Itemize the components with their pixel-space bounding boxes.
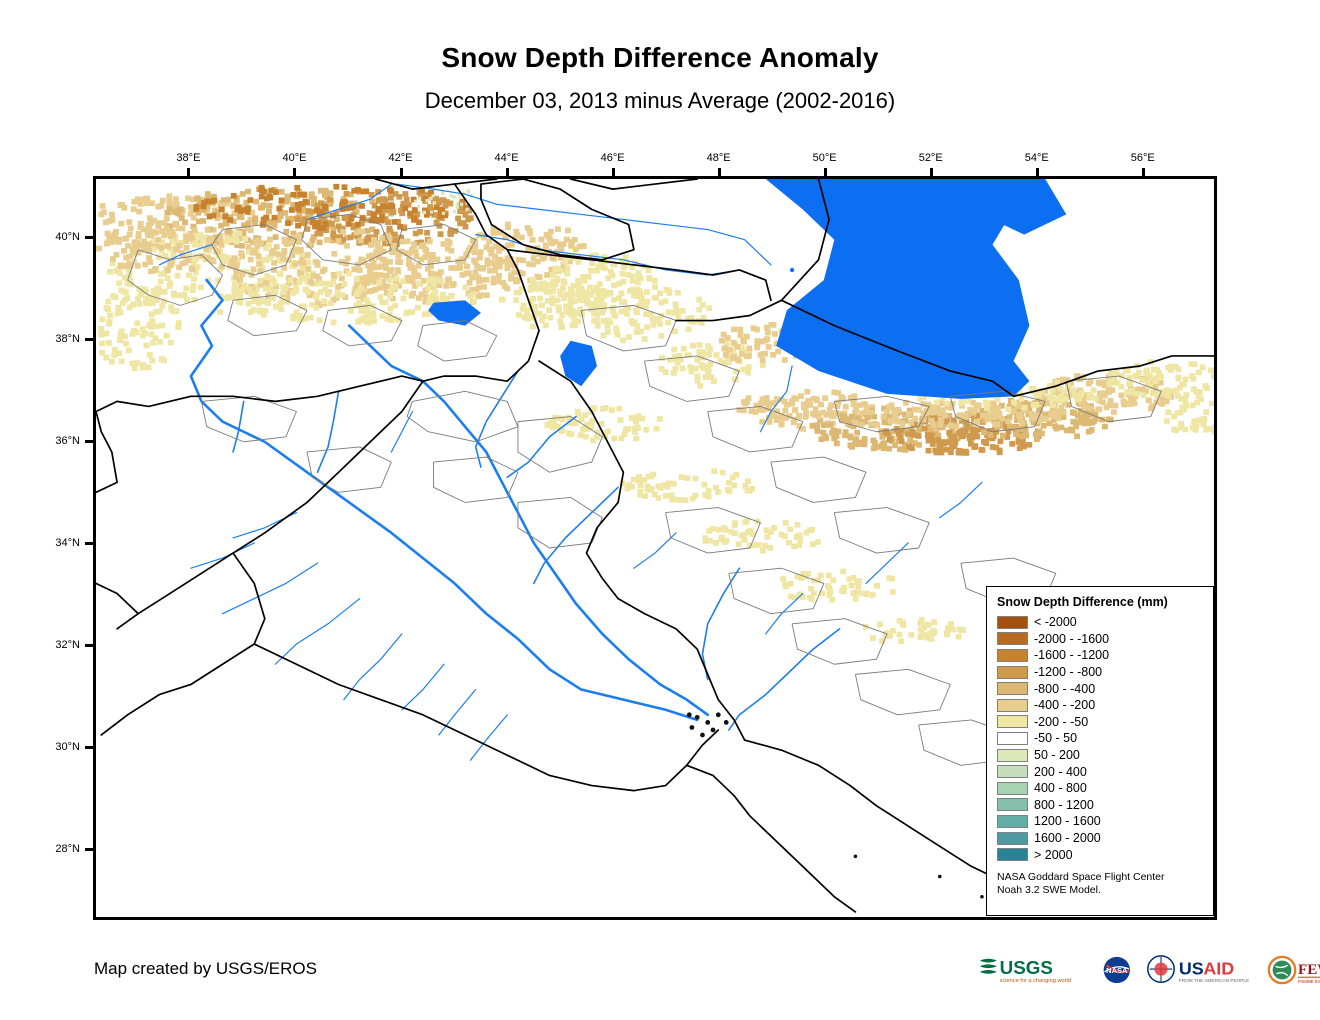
anomaly-cell [547, 236, 553, 242]
anomaly-cell [505, 260, 511, 266]
legend-swatch [997, 666, 1028, 679]
x-tick-label: 46°E [601, 152, 625, 164]
nasa-logo: NASA [1098, 954, 1136, 986]
anomaly-cell [568, 431, 574, 437]
anomaly-cell [107, 269, 113, 275]
anomaly-cell [666, 309, 672, 315]
anomaly-cell [440, 241, 446, 247]
anomaly-cell [991, 404, 997, 410]
anomaly-cell [713, 540, 719, 546]
anomaly-cell [484, 292, 490, 298]
anomaly-cell [568, 291, 574, 297]
anomaly-cell [689, 369, 695, 375]
anomaly-cell [723, 352, 729, 358]
anomaly-cell [1005, 419, 1011, 425]
anomaly-cell [771, 525, 777, 531]
anomaly-cell [178, 292, 184, 298]
anomaly-cell [98, 212, 104, 218]
anomaly-cell [644, 487, 650, 493]
anomaly-cell [376, 206, 382, 212]
anomaly-cell [473, 287, 479, 293]
anomaly-cell [295, 216, 301, 222]
country-border [687, 765, 856, 912]
anomaly-cell [886, 575, 892, 581]
anomaly-cell [611, 436, 617, 442]
anomaly-cell [206, 237, 212, 243]
anomaly-cell [387, 259, 393, 265]
anomaly-cell [767, 545, 773, 551]
anomaly-cell [635, 293, 641, 299]
anomaly-cell [917, 620, 923, 626]
anomaly-cell [742, 519, 748, 525]
anomaly-cell [175, 211, 181, 217]
admin-boundary [834, 508, 929, 554]
anomaly-cell [557, 291, 563, 297]
anomaly-cell [553, 239, 559, 245]
anomaly-cell [1026, 442, 1032, 448]
anomaly-cell [926, 622, 932, 628]
anomaly-cell [564, 271, 570, 277]
anomaly-cell [157, 339, 163, 345]
anomaly-cell [412, 269, 418, 275]
anomaly-cell [725, 335, 731, 341]
anomaly-cell [106, 321, 112, 327]
anomaly-cell [715, 489, 721, 495]
anomaly-cell [204, 199, 210, 205]
anomaly-cell [354, 230, 360, 236]
anomaly-cell [136, 209, 142, 215]
anomaly-cell [736, 541, 742, 547]
anomaly-cell [854, 579, 860, 585]
anomaly-cell [595, 323, 601, 329]
x-tick-label: 42°E [389, 152, 413, 164]
anomaly-cell [371, 318, 377, 324]
anomaly-cell [797, 532, 803, 538]
water-speck [980, 222, 984, 226]
marsh-speck [711, 728, 716, 733]
anomaly-cell [371, 211, 377, 217]
anomaly-cell [355, 222, 361, 228]
anomaly-cell [372, 274, 378, 280]
anomaly-cell [358, 286, 364, 292]
river [729, 629, 840, 730]
anomaly-cell [720, 470, 726, 476]
anomaly-cell [355, 319, 361, 325]
anomaly-cell [768, 322, 774, 328]
anomaly-cell [990, 444, 996, 450]
anomaly-cell [655, 495, 661, 501]
anomaly-cell [460, 203, 463, 206]
anomaly-cell [778, 416, 784, 422]
anomaly-cell [686, 326, 692, 332]
legend-swatch [997, 848, 1028, 861]
anomaly-cell [358, 238, 364, 244]
anomaly-cell [237, 277, 243, 283]
anomaly-cell [808, 586, 814, 592]
anomaly-cell [827, 407, 833, 413]
agency-logo-strip: USGS science for a changing world NASA U… [978, 952, 1320, 988]
anomaly-cell [508, 276, 514, 282]
anomaly-cell [899, 439, 905, 445]
anomaly-cell [1166, 410, 1172, 416]
river [223, 563, 318, 613]
marsh-speck [695, 715, 700, 720]
anomaly-cell [706, 488, 712, 494]
anomaly-cell [1021, 443, 1027, 449]
anomaly-cell [374, 229, 380, 235]
anomaly-cell [527, 287, 533, 293]
anomaly-cell [425, 199, 428, 202]
anomaly-cell [620, 271, 626, 277]
anomaly-cell [189, 235, 195, 241]
anomaly-cell [888, 418, 894, 424]
anomaly-cell [308, 315, 314, 321]
anomaly-cell [782, 357, 788, 363]
anomaly-cell [516, 257, 522, 263]
anomaly-cell [418, 196, 421, 199]
anomaly-cell [626, 334, 632, 340]
anomaly-cell [429, 256, 435, 262]
country-border [254, 644, 718, 791]
anomaly-cell [374, 217, 380, 223]
anomaly-cell [192, 240, 198, 246]
anomaly-cell [650, 316, 656, 322]
anomaly-cell [543, 242, 549, 248]
anomaly-cell [253, 199, 259, 205]
anomaly-cell [877, 622, 883, 628]
anomaly-cell [861, 439, 867, 445]
anomaly-cell [399, 211, 405, 217]
anomaly-cell [337, 271, 343, 277]
anomaly-cell [613, 325, 619, 331]
anomaly-cell [995, 422, 1001, 428]
anomaly-cell [1086, 420, 1092, 426]
anomaly-cell [144, 200, 150, 206]
anomaly-cell [263, 245, 269, 251]
anomaly-cell [186, 257, 192, 263]
anomaly-cell [699, 362, 705, 368]
anomaly-cell [395, 259, 401, 265]
anomaly-cell [980, 413, 986, 419]
anomaly-cell [1129, 390, 1135, 396]
anomaly-cell [822, 395, 828, 401]
anomaly-cell [386, 227, 392, 233]
anomaly-cell [99, 316, 105, 322]
anomaly-cell [234, 262, 240, 268]
anomaly-cell [411, 216, 417, 222]
anomaly-cell [577, 306, 583, 312]
anomaly-cell [169, 202, 175, 208]
anomaly-cell [388, 277, 394, 283]
anomaly-cell [552, 266, 558, 272]
anomaly-cell [1097, 381, 1103, 387]
anomaly-cell [636, 476, 642, 482]
anomaly-cell [916, 442, 922, 448]
anomaly-cell [925, 635, 931, 641]
anomaly-cell [1192, 362, 1198, 368]
anomaly-cell [839, 588, 845, 594]
anomaly-cell [205, 227, 211, 233]
y-tick [85, 644, 93, 647]
anomaly-cell [608, 269, 614, 275]
anomaly-cell [346, 271, 352, 277]
anomaly-cell [760, 357, 766, 363]
anomaly-cell [796, 413, 802, 419]
anomaly-cell [402, 205, 408, 211]
anomaly-cell [1112, 403, 1118, 409]
anomaly-cell [665, 320, 671, 326]
y-tick [85, 746, 93, 749]
anomaly-cell [967, 407, 973, 413]
x-tick-label: 44°E [495, 152, 519, 164]
anomaly-cell [434, 257, 440, 263]
anomaly-cell [388, 306, 394, 312]
anomaly-cell [605, 429, 611, 435]
anomaly-cell [453, 210, 456, 213]
anomaly-cell [167, 280, 173, 286]
svg-text:FEWS NET: FEWS NET [1298, 962, 1320, 978]
water-speck [948, 232, 952, 236]
anomaly-cell [826, 573, 832, 579]
svg-text:science for a changing world: science for a changing world [1000, 978, 1071, 984]
anomaly-cell [1203, 409, 1209, 415]
anomaly-cell [484, 277, 490, 283]
anomaly-cell [767, 419, 773, 425]
anomaly-cell [663, 493, 669, 499]
anomaly-cell [1010, 408, 1016, 414]
anomaly-cell [760, 363, 766, 369]
anomaly-cell [305, 266, 311, 272]
anomaly-cell [314, 274, 320, 280]
anomaly-cell [919, 630, 925, 636]
anomaly-cell [943, 401, 949, 407]
legend-label: -1200 - -800 [1034, 665, 1102, 679]
anomaly-cell [893, 409, 899, 415]
anomaly-cell [1108, 371, 1114, 377]
anomaly-cell [154, 324, 160, 330]
anomaly-cell [261, 217, 267, 223]
anomaly-cell [402, 191, 408, 197]
anomaly-cell [164, 333, 170, 339]
anomaly-cell [292, 261, 298, 267]
anomaly-cell [530, 280, 536, 286]
anomaly-cell [344, 243, 350, 249]
anomaly-cell [745, 529, 751, 535]
anomaly-cell [1114, 370, 1120, 376]
y-tick-label: 32°N [55, 639, 80, 651]
anomaly-cell [697, 383, 703, 389]
anomaly-cell [544, 422, 550, 428]
anomaly-cell [305, 289, 311, 295]
anomaly-cell [623, 426, 629, 432]
river [349, 326, 708, 715]
anomaly-cell [644, 299, 650, 305]
anomaly-cell [155, 204, 161, 210]
anomaly-cell [165, 268, 171, 274]
anomaly-cell [654, 426, 660, 432]
anomaly-cell [726, 480, 732, 486]
anomaly-cell [400, 296, 406, 302]
anomaly-cell [384, 316, 390, 322]
anomaly-cell [185, 195, 191, 201]
anomaly-cell [1141, 392, 1147, 398]
anomaly-cell [245, 301, 251, 307]
legend-class-list: < -2000-2000 - -1600-1600 - -1200-1200 -… [997, 614, 1205, 863]
anomaly-cell [168, 233, 174, 239]
anomaly-cell [125, 243, 131, 249]
anomaly-cell [569, 312, 575, 318]
anomaly-cell [99, 350, 105, 356]
anomaly-cell [997, 450, 1003, 456]
anomaly-cell [345, 256, 351, 262]
anomaly-cell [430, 292, 436, 298]
anomaly-cell [741, 339, 747, 345]
anomaly-cell [1208, 368, 1214, 374]
anomaly-cell [733, 472, 739, 478]
anomaly-cell [217, 309, 223, 315]
x-tick [1142, 168, 1145, 176]
anomaly-cell [972, 443, 978, 449]
anomaly-cell [305, 252, 311, 258]
anomaly-cell [611, 297, 617, 303]
anomaly-cell [976, 403, 982, 409]
svg-text:USGS: USGS [1000, 957, 1053, 978]
anomaly-cell [544, 272, 550, 278]
anomaly-cell [387, 293, 393, 299]
anomaly-cell [246, 244, 252, 250]
anomaly-cell [618, 417, 624, 423]
legend-attribution: NASA Goddard Space Flight Center Noah 3.… [997, 871, 1205, 897]
anomaly-cell [929, 418, 935, 424]
anomaly-cell [590, 438, 596, 444]
anomaly-cell [537, 311, 543, 317]
anomaly-cell [1158, 374, 1164, 380]
anomaly-cell [465, 217, 471, 223]
anomaly-cell [554, 297, 560, 303]
anomaly-cell [368, 264, 374, 270]
river [191, 543, 254, 568]
anomaly-cell [1191, 418, 1197, 424]
river [402, 664, 444, 710]
anomaly-cell [217, 236, 223, 242]
anomaly-cell [381, 257, 387, 263]
anomaly-cell [1196, 394, 1202, 400]
anomaly-cell [637, 489, 643, 495]
anomaly-cell [116, 351, 122, 357]
anomaly-cell [290, 192, 296, 198]
anomaly-cell [599, 306, 605, 312]
island-speck [854, 855, 858, 859]
svg-text:FROM THE AMERICAN PEOPLE: FROM THE AMERICAN PEOPLE [1179, 978, 1249, 983]
anomaly-cell [783, 520, 789, 526]
anomaly-cell [685, 475, 691, 481]
anomaly-cell [266, 209, 272, 215]
anomaly-cell [348, 308, 354, 314]
y-tick [85, 542, 93, 545]
anomaly-cell [443, 283, 449, 289]
anomaly-cell [638, 329, 644, 335]
anomaly-cell [530, 237, 536, 243]
anomaly-cell [320, 269, 326, 275]
anomaly-cell [1050, 409, 1056, 415]
anomaly-cell [293, 285, 299, 291]
anomaly-cell [690, 496, 696, 502]
anomaly-cell [114, 252, 120, 258]
anomaly-cell [509, 242, 515, 248]
anomaly-cell [564, 265, 570, 271]
anomaly-cell [716, 527, 722, 533]
anomaly-cell [516, 312, 522, 318]
anomaly-cell [264, 196, 270, 202]
anomaly-cell [431, 282, 437, 288]
anomaly-cell [1022, 405, 1028, 411]
anomaly-cell [147, 352, 153, 358]
anomaly-cell [256, 253, 262, 259]
anomaly-cell [547, 315, 553, 321]
anomaly-cell [291, 316, 297, 322]
anomaly-cell [415, 274, 421, 280]
anomaly-cell [823, 435, 829, 441]
anomaly-cell [616, 406, 622, 412]
anomaly-cell [645, 474, 651, 480]
anomaly-cell [377, 294, 383, 300]
anomaly-cell [821, 422, 827, 428]
anomaly-cell [425, 286, 431, 292]
anomaly-cell [959, 400, 965, 406]
anomaly-cell [755, 542, 761, 548]
anomaly-cell [317, 231, 323, 237]
anomaly-cell [659, 355, 665, 361]
anomaly-cell [376, 280, 382, 286]
anomaly-cell [289, 207, 295, 213]
anomaly-cell [605, 317, 611, 323]
anomaly-cell [530, 296, 536, 302]
anomaly-cell [296, 239, 302, 245]
anomaly-cell [149, 318, 155, 324]
anomaly-cell [631, 415, 637, 421]
anomaly-cell [878, 444, 884, 450]
anomaly-cell [1191, 376, 1197, 382]
anomaly-cell [252, 215, 258, 221]
anomaly-cell [1043, 416, 1049, 422]
anomaly-cell [611, 311, 617, 317]
anomaly-cell [415, 305, 421, 311]
anomaly-cell [886, 446, 892, 452]
anomaly-cell [618, 436, 624, 442]
anomaly-cell [853, 420, 859, 426]
anomaly-cell [427, 239, 433, 245]
legend-swatch [997, 632, 1028, 645]
anomaly-cell [702, 482, 708, 488]
anomaly-cell [590, 288, 596, 294]
anomaly-cell [346, 221, 352, 227]
anomaly-cell [642, 336, 648, 342]
anomaly-cell [675, 360, 681, 366]
anomaly-cell [996, 411, 1002, 417]
anomaly-cell [1124, 400, 1130, 406]
anomaly-cell [787, 527, 793, 533]
anomaly-cell [417, 205, 420, 208]
anomaly-cell [644, 289, 650, 295]
anomaly-cell [240, 191, 246, 197]
anomaly-cell [269, 278, 275, 284]
anomaly-cell [152, 267, 158, 273]
anomaly-cell [330, 213, 336, 219]
anomaly-cell [118, 221, 124, 227]
country-border [376, 179, 497, 189]
anomaly-cell [194, 256, 200, 262]
legend-row: -200 - -50 [997, 714, 1205, 731]
